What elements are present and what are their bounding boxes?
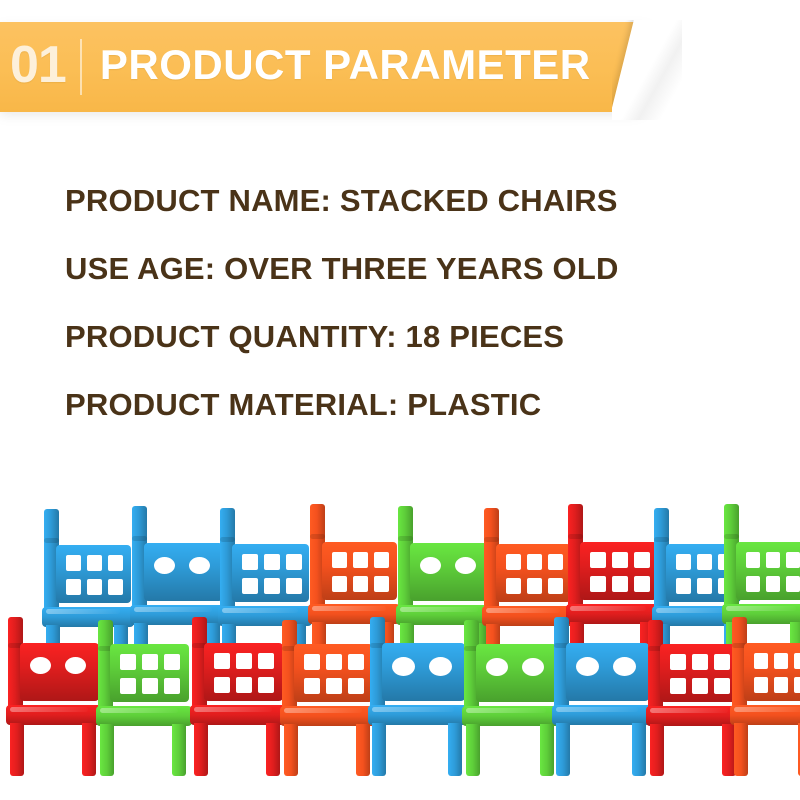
chair-back-panel bbox=[144, 543, 223, 601]
chair-back-slat bbox=[332, 576, 347, 592]
chair-seat-hole bbox=[455, 557, 476, 574]
spec-line-use-age: USE AGE: OVER THREE YEARS OLD bbox=[65, 234, 765, 302]
chair-back-slat bbox=[527, 554, 542, 570]
chair-seat bbox=[552, 705, 652, 725]
chair-back-slat bbox=[527, 578, 542, 594]
chair-back-slat bbox=[236, 653, 252, 669]
chair-back-slat bbox=[348, 654, 364, 670]
chair-leg bbox=[466, 724, 480, 776]
chair-leg bbox=[100, 724, 114, 776]
chair-back-slat bbox=[164, 678, 180, 694]
chair-back-slat bbox=[590, 552, 606, 568]
chair-leg bbox=[448, 723, 462, 776]
chair-back-slat bbox=[242, 554, 258, 570]
chair-back-slat bbox=[242, 578, 258, 594]
chair-seat-hole bbox=[65, 657, 86, 674]
chair-back-slat bbox=[697, 578, 712, 594]
chair-back-slat bbox=[332, 552, 347, 568]
chair-back-slat bbox=[746, 576, 760, 592]
section-banner: 01 PRODUCT PARAMETER bbox=[0, 22, 660, 112]
chair-back-slat bbox=[108, 579, 123, 595]
chair-seat bbox=[280, 706, 376, 726]
chair-back-slat bbox=[353, 552, 368, 568]
chair-back-slat bbox=[236, 677, 252, 693]
banner-index-number: 01 bbox=[4, 39, 80, 95]
spec-line-product-material: PRODUCT MATERIAL: PLASTIC bbox=[65, 370, 765, 438]
chair-back-slat bbox=[120, 654, 136, 670]
chair-seat bbox=[190, 705, 286, 725]
chair-seat-hole bbox=[522, 658, 544, 676]
chair-seat bbox=[368, 705, 468, 725]
chair-back-slat bbox=[108, 555, 123, 571]
chair-leg bbox=[82, 723, 96, 776]
chair-back-slat bbox=[590, 576, 606, 592]
chair-back-slat bbox=[374, 552, 389, 568]
chair-back-slat bbox=[214, 677, 230, 693]
chair-back-slat bbox=[634, 552, 650, 568]
chair-seat-hole bbox=[429, 657, 452, 676]
chair-back-slat bbox=[670, 654, 686, 670]
chair-back-slat bbox=[164, 654, 180, 670]
chair-leg bbox=[650, 724, 664, 776]
chair-seat-hole bbox=[189, 557, 210, 574]
chair-seat bbox=[646, 706, 742, 726]
chair-back-slat bbox=[506, 554, 521, 570]
chair-back-slat bbox=[264, 554, 280, 570]
chair-back-slat bbox=[87, 555, 102, 571]
toy-chair bbox=[552, 617, 656, 792]
chair-back-slat bbox=[258, 677, 274, 693]
chair-back-slat bbox=[120, 678, 136, 694]
spec-line-product-quantity: PRODUCT QUANTITY: 18 PIECES bbox=[65, 302, 765, 370]
banner-divider bbox=[80, 39, 82, 95]
chair-seat-hole bbox=[486, 658, 508, 676]
toy-chair bbox=[730, 617, 800, 792]
chair-back-slat bbox=[142, 678, 158, 694]
chair-back-slat bbox=[353, 576, 368, 592]
toy-chair bbox=[368, 617, 472, 792]
chair-back-slat bbox=[326, 654, 342, 670]
chair-back-slat bbox=[692, 678, 708, 694]
chair-leg bbox=[734, 723, 748, 776]
chair-back-slat bbox=[754, 677, 768, 693]
chair-back-slat bbox=[612, 552, 628, 568]
chair-back-slat bbox=[786, 552, 800, 568]
chair-back-slat bbox=[374, 576, 389, 592]
chair-back-slat bbox=[304, 678, 320, 694]
chair-back-slat bbox=[548, 554, 563, 570]
product-spec-list: PRODUCT NAME: STACKED CHAIRS USE AGE: OV… bbox=[65, 166, 765, 438]
chair-seat-hole bbox=[392, 657, 415, 676]
banner-title: PRODUCT PARAMETER bbox=[100, 44, 591, 90]
chair-back-slat bbox=[794, 677, 800, 693]
chair-back-slat bbox=[692, 654, 708, 670]
chair-leg bbox=[194, 723, 208, 776]
chair-seat-hole bbox=[420, 557, 441, 574]
chair-seat-hole bbox=[613, 657, 636, 676]
chair-back-slat bbox=[66, 579, 81, 595]
chair-back-slat bbox=[348, 678, 364, 694]
chair-leg bbox=[556, 723, 570, 776]
toy-chair bbox=[280, 620, 380, 792]
chair-back-slat bbox=[746, 552, 760, 568]
chair-leg bbox=[172, 724, 186, 776]
toy-chair bbox=[462, 620, 564, 792]
chair-back-slat bbox=[786, 576, 800, 592]
toy-chair bbox=[96, 620, 196, 792]
toy-chair bbox=[190, 617, 290, 792]
chair-back-slat bbox=[676, 554, 691, 570]
chair-back-slat bbox=[774, 677, 788, 693]
chair-back-slat bbox=[766, 552, 780, 568]
chair-seat-hole bbox=[30, 657, 51, 674]
chair-back-slat bbox=[670, 678, 686, 694]
chair-seat bbox=[462, 706, 560, 726]
chair-back-slat bbox=[634, 576, 650, 592]
chair-back-slat bbox=[326, 678, 342, 694]
chair-leg bbox=[284, 724, 298, 776]
chair-back-panel bbox=[20, 643, 99, 701]
chair-seat bbox=[96, 706, 192, 726]
chair-leg bbox=[10, 723, 24, 776]
chair-back-slat bbox=[286, 578, 302, 594]
chair-seat bbox=[730, 705, 800, 725]
spec-line-product-name: PRODUCT NAME: STACKED CHAIRS bbox=[65, 166, 765, 234]
chair-back-slat bbox=[794, 653, 800, 669]
chair-seat-hole bbox=[154, 557, 175, 574]
chair-back-slat bbox=[66, 555, 81, 571]
toy-chair bbox=[6, 617, 106, 792]
chair-back-slat bbox=[714, 678, 730, 694]
chair-back-slat bbox=[697, 554, 712, 570]
chair-back-slat bbox=[774, 653, 788, 669]
chair-back-slat bbox=[714, 654, 730, 670]
chair-leg bbox=[266, 723, 280, 776]
chair-back-slat bbox=[548, 578, 563, 594]
chair-back-slat bbox=[612, 576, 628, 592]
product-photo-stacked-chairs bbox=[0, 455, 800, 800]
chair-seat-hole bbox=[576, 657, 599, 676]
chair-back-slat bbox=[766, 576, 780, 592]
banner-ribbon: 01 PRODUCT PARAMETER bbox=[0, 22, 640, 112]
chair-back-panel bbox=[410, 543, 489, 601]
chair-back-slat bbox=[304, 654, 320, 670]
chair-back-slat bbox=[506, 578, 521, 594]
chair-back-slat bbox=[87, 579, 102, 595]
chair-back-slat bbox=[264, 578, 280, 594]
chair-back-slat bbox=[754, 653, 768, 669]
chair-back-slat bbox=[258, 653, 274, 669]
chair-back-slat bbox=[142, 654, 158, 670]
chair-seat bbox=[6, 705, 102, 725]
chair-back-panel bbox=[744, 643, 800, 701]
chair-leg bbox=[632, 723, 646, 776]
chair-leg bbox=[372, 723, 386, 776]
chair-back-slat bbox=[286, 554, 302, 570]
chair-back-slat bbox=[676, 578, 691, 594]
chair-back-slat bbox=[214, 653, 230, 669]
